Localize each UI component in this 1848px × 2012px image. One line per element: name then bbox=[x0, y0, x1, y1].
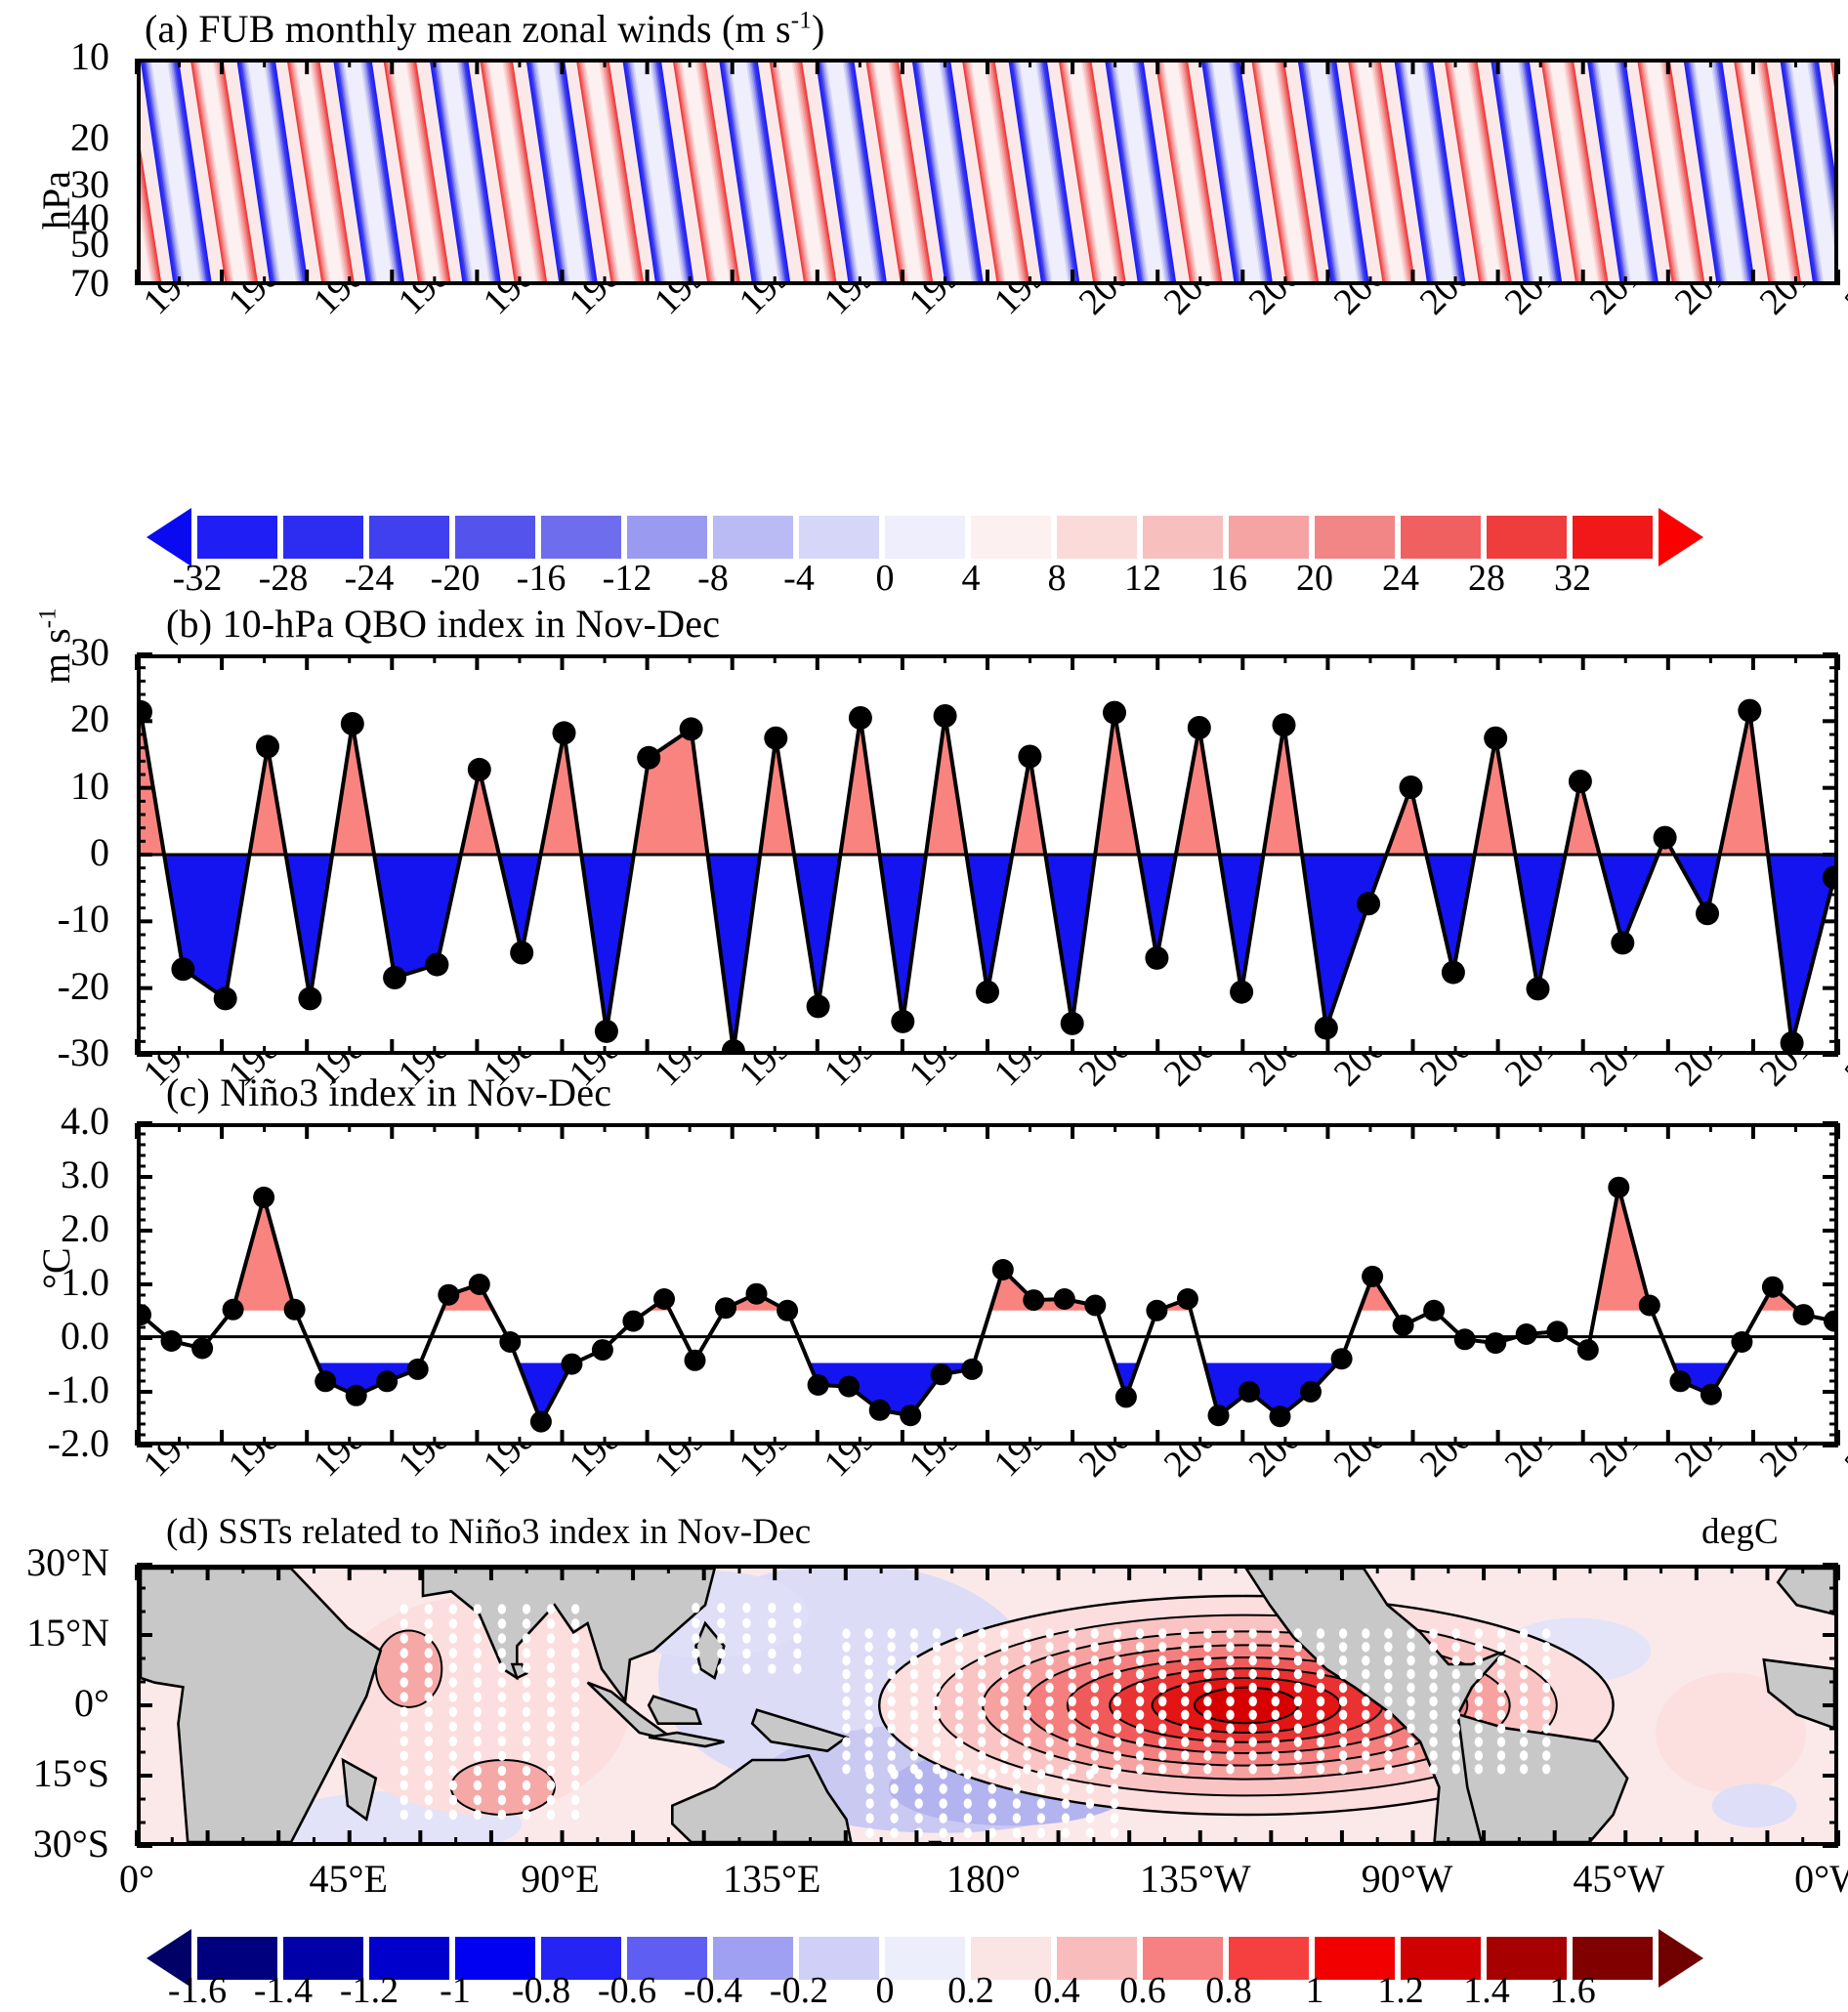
panel-a-xtick-2019: 2019 bbox=[1836, 293, 1848, 323]
panel-c-xtick-1989: 1989 bbox=[561, 1455, 591, 1486]
panel-c-xtick-2019: 2019 bbox=[1836, 1455, 1848, 1486]
panel-c-xtick-2017: 2017 bbox=[1751, 1455, 1782, 1486]
panel-d-xtick-8: 0°W bbox=[1747, 1856, 1848, 1902]
panel-d-map bbox=[137, 1565, 1838, 1846]
panel-a-xtick-1983: 1983 bbox=[305, 293, 335, 323]
panel-c-xtick-1987: 1987 bbox=[475, 1455, 505, 1486]
panel-a-xtick-1981: 1981 bbox=[220, 293, 250, 323]
panel-d-colorbar-label-1.6: 1.6 bbox=[1514, 1969, 1631, 2012]
panel-d-ytick-0°: 0° bbox=[0, 1680, 109, 1726]
panel-a-qbo-heatmap bbox=[141, 63, 1838, 285]
panel-c-xtick-2015: 2015 bbox=[1666, 1455, 1697, 1486]
panel-a-colorbar-cell-4 bbox=[541, 516, 621, 559]
panel-c-xtick-2009: 2009 bbox=[1411, 1455, 1442, 1486]
panel-b-ytick--30: -30 bbox=[0, 1029, 109, 1075]
panel-c-plot bbox=[137, 1123, 1838, 1446]
panel-a-xtick-2003: 2003 bbox=[1155, 293, 1186, 323]
panel-b-title: (b) 10-hPa QBO index in Nov-Dec bbox=[166, 601, 720, 647]
panel-b-xtick-2009: 2009 bbox=[1411, 1065, 1442, 1095]
panel-d-xtick-4: 180° bbox=[901, 1856, 1067, 1902]
panel-a-ytick-20: 20 bbox=[0, 114, 109, 160]
panel-a-xtick-2015: 2015 bbox=[1666, 293, 1697, 323]
panel-c-xtick-1985: 1985 bbox=[390, 1455, 420, 1486]
panel-a-colorbar-cell-1 bbox=[283, 516, 363, 559]
panel-b-xtick-1997: 1997 bbox=[901, 1065, 931, 1095]
panel-b-xtick-2015: 2015 bbox=[1666, 1065, 1697, 1095]
panel-b-ytick--10: -10 bbox=[0, 896, 109, 942]
panel-a-xtick-2017: 2017 bbox=[1751, 293, 1782, 323]
panel-a-colorbar-cell-7 bbox=[799, 516, 879, 559]
panel-c-xtick-1983: 1983 bbox=[305, 1455, 335, 1486]
panel-a-xtick-2005: 2005 bbox=[1240, 293, 1271, 323]
panel-c-ytick--2.0: -2.0 bbox=[0, 1420, 109, 1466]
panel-a-xtick-2007: 2007 bbox=[1325, 293, 1356, 323]
panel-a-colorbar-cell-13 bbox=[1315, 516, 1395, 559]
panel-b-xtick-2017: 2017 bbox=[1751, 1065, 1782, 1095]
panel-d-ytick-30°N: 30°N bbox=[0, 1539, 109, 1585]
panel-a-plot bbox=[137, 59, 1838, 285]
panel-a-xtick-1991: 1991 bbox=[646, 293, 676, 323]
panel-d-xtick-1: 45°E bbox=[266, 1856, 432, 1902]
panel-d-ytick-15°N: 15°N bbox=[0, 1610, 109, 1656]
panel-d-xtick-3: 135°E bbox=[689, 1856, 855, 1902]
panel-b-xtick-2001: 2001 bbox=[1071, 1065, 1101, 1095]
panel-c-xtick-1993: 1993 bbox=[731, 1455, 761, 1486]
panel-d-xtick-5: 135°W bbox=[1113, 1856, 1279, 1902]
panel-c-xtick-1995: 1995 bbox=[816, 1455, 846, 1486]
panel-a-xtick-1979: 1979 bbox=[135, 293, 165, 323]
panel-b-xtick-2019: 2019 bbox=[1836, 1065, 1848, 1095]
panel-b-ytick-0: 0 bbox=[0, 829, 109, 875]
panel-d-sst-map bbox=[141, 1569, 1834, 1842]
panel-c-xtick-2005: 2005 bbox=[1240, 1455, 1271, 1486]
panel-a-colorbar-cell-0 bbox=[197, 516, 277, 559]
panel-c-xtick-1991: 1991 bbox=[646, 1455, 676, 1486]
panel-c-xtick-1979: 1979 bbox=[135, 1455, 165, 1486]
panel-b-xtick-1993: 1993 bbox=[731, 1065, 761, 1095]
panel-a-xtick-1989: 1989 bbox=[561, 293, 591, 323]
panel-c-xtick-1999: 1999 bbox=[986, 1455, 1016, 1486]
panel-a-xtick-2011: 2011 bbox=[1496, 293, 1527, 323]
panel-b-xtick-1999: 1999 bbox=[986, 1065, 1016, 1095]
panel-c-xtick-2007: 2007 bbox=[1325, 1455, 1356, 1486]
panel-b-plot bbox=[137, 654, 1838, 1055]
panel-c-title: (c) Niño3 index in Nov-Dec bbox=[166, 1069, 611, 1115]
panel-a-xtick-1997: 1997 bbox=[901, 293, 931, 323]
panel-c-ytick-1.0: 1.0 bbox=[0, 1259, 109, 1305]
panel-a-title-superscript: -1 bbox=[791, 8, 812, 34]
panel-b-ytick-20: 20 bbox=[0, 695, 109, 741]
panel-a-colorbar-cell-12 bbox=[1229, 516, 1309, 559]
panel-d-xtick-7: 45°W bbox=[1535, 1856, 1701, 1902]
panel-a-colorbar-cell-8 bbox=[885, 516, 965, 559]
panel-d-colorbar-labels: -1.6-1.4-1.2-1-0.8-0.6-0.4-0.200.20.40.6… bbox=[147, 1969, 1848, 2012]
panel-a-xtick-1993: 1993 bbox=[731, 293, 761, 323]
panel-c-xtick-2001: 2001 bbox=[1071, 1455, 1101, 1486]
panel-a-xtick-1985: 1985 bbox=[390, 293, 420, 323]
panel-a-colorbar-cell-11 bbox=[1143, 516, 1223, 559]
panel-a-ytick-70: 70 bbox=[0, 260, 109, 306]
panel-c-xtick-2013: 2013 bbox=[1581, 1455, 1612, 1486]
panel-a-colorbar-cell-5 bbox=[627, 516, 707, 559]
panel-a-title-main: (a) FUB monthly mean zonal winds (m s bbox=[145, 7, 791, 51]
panel-a-colorbar-labels: -32-28-24-20-16-12-8-4048121620242832 bbox=[147, 557, 1848, 604]
panel-d-ytick-15°S: 15°S bbox=[0, 1750, 109, 1796]
panel-c-nino3-timeseries bbox=[141, 1127, 1834, 1442]
panel-a-xtick-1987: 1987 bbox=[475, 293, 505, 323]
panel-c-xtick-2003: 2003 bbox=[1155, 1455, 1186, 1486]
panel-c-ytick-0.0: 0.0 bbox=[0, 1313, 109, 1359]
panel-c-ytick-3.0: 3.0 bbox=[0, 1152, 109, 1197]
panel-c-xtick-1981: 1981 bbox=[220, 1455, 250, 1486]
panel-a-colorbar-cell-10 bbox=[1057, 516, 1137, 559]
panel-a-title-close: ) bbox=[812, 7, 825, 51]
panel-a-xtick-2001: 2001 bbox=[1071, 293, 1101, 323]
panel-a-colorbar-label-32: 32 bbox=[1514, 557, 1631, 600]
panel-b-xtick-2007: 2007 bbox=[1325, 1065, 1356, 1095]
panel-a-colorbar-cell-9 bbox=[971, 516, 1051, 559]
panel-a-colorbar-cell-15 bbox=[1487, 516, 1567, 559]
panel-d-xtick-6: 90°W bbox=[1324, 1856, 1491, 1902]
panel-a-colorbar-cell-14 bbox=[1401, 516, 1481, 559]
panel-b-ytick-30: 30 bbox=[0, 629, 109, 675]
panel-b-xtick-1995: 1995 bbox=[816, 1065, 846, 1095]
panel-b-ytick--20: -20 bbox=[0, 963, 109, 1009]
panel-d-title: (d) SSTs related to Niño3 index in Nov-D… bbox=[166, 1511, 811, 1553]
panel-b-qbo-timeseries bbox=[141, 658, 1834, 1051]
panel-d-xtick-2: 90°E bbox=[478, 1856, 644, 1902]
panel-a-colorbar-cell-16 bbox=[1573, 516, 1653, 559]
panel-a-xtick-2013: 2013 bbox=[1581, 293, 1612, 323]
panel-b-ylabel-superscript: -1 bbox=[35, 608, 62, 628]
panel-a-title: (a) FUB monthly mean zonal winds (m s-1) bbox=[145, 6, 825, 52]
panel-b-xtick-2011: 2011 bbox=[1496, 1065, 1527, 1095]
panel-c-ytick-2.0: 2.0 bbox=[0, 1205, 109, 1251]
panel-a-xtick-1995: 1995 bbox=[816, 293, 846, 323]
panel-c-xtick-2011: 2011 bbox=[1496, 1455, 1527, 1486]
panel-c-ytick-4.0: 4.0 bbox=[0, 1098, 109, 1144]
panel-b-xtick-1979: 1979 bbox=[135, 1065, 165, 1095]
panel-c-xtick-1997: 1997 bbox=[901, 1455, 931, 1486]
panel-a-colorbar-cell-3 bbox=[455, 516, 535, 559]
panel-b-xtick-2005: 2005 bbox=[1240, 1065, 1271, 1095]
panel-b-xtick-2003: 2003 bbox=[1155, 1065, 1186, 1095]
panel-d-xtick-0: 0° bbox=[54, 1856, 220, 1902]
panel-c-ytick--1.0: -1.0 bbox=[0, 1366, 109, 1412]
panel-b-ytick-10: 10 bbox=[0, 763, 109, 809]
panel-a-xtick-2009: 2009 bbox=[1411, 293, 1442, 323]
panel-a-ytick-10: 10 bbox=[0, 33, 109, 79]
panel-a-colorbar-cell-6 bbox=[713, 516, 793, 559]
panel-d-unit-label: degC bbox=[1701, 1511, 1779, 1553]
figure-root: (a) FUB monthly mean zonal winds (m s-1)… bbox=[0, 0, 1848, 2012]
panel-b-xtick-1991: 1991 bbox=[646, 1065, 676, 1095]
panel-a-colorbar-cell-2 bbox=[369, 516, 449, 559]
panel-b-xtick-2013: 2013 bbox=[1581, 1065, 1612, 1095]
panel-a-xtick-1999: 1999 bbox=[986, 293, 1016, 323]
